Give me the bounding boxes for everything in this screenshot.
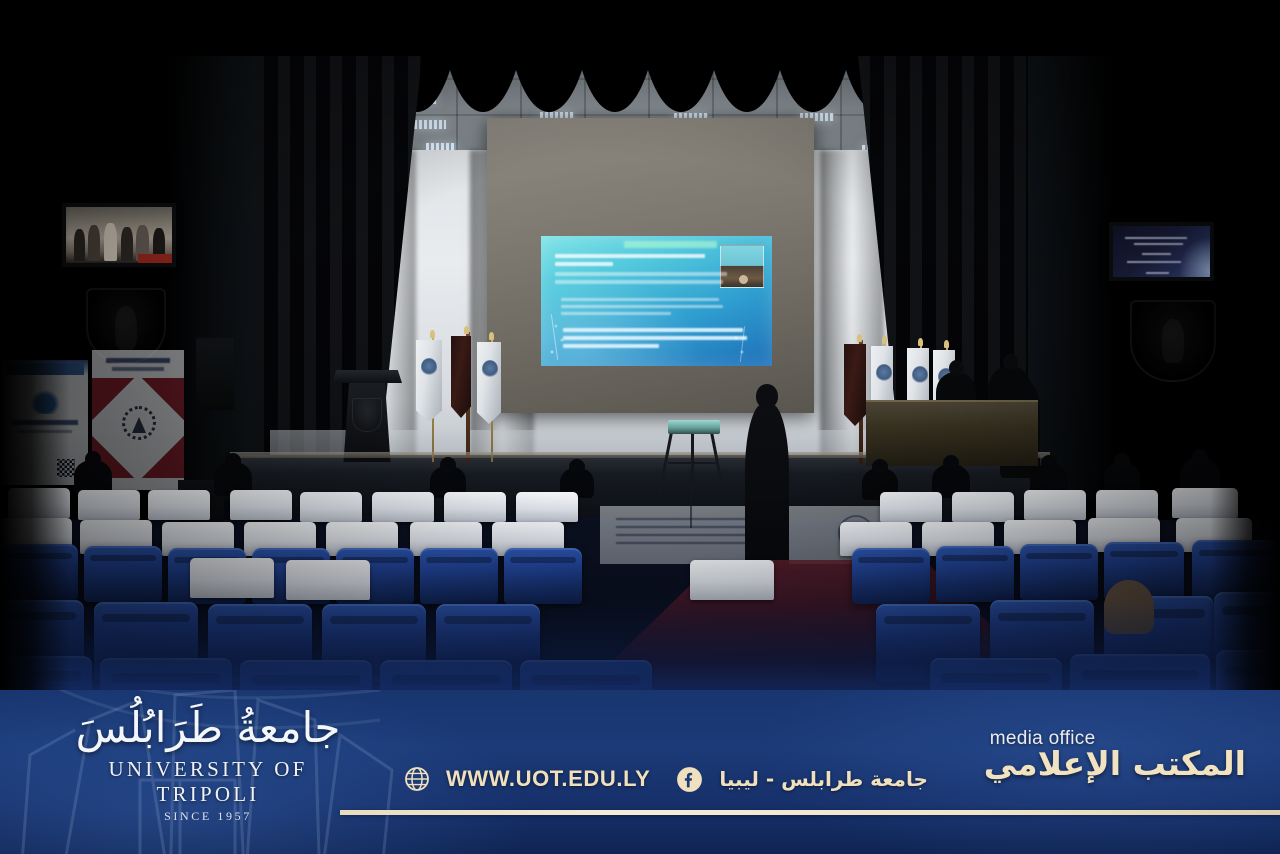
person-head [943, 455, 959, 471]
seat-headrest-cover [1096, 490, 1158, 520]
seat-headrest-cover [8, 488, 70, 518]
rollup-subtext [18, 430, 72, 433]
slide-text-line [563, 336, 747, 340]
seat-headrest-cover [372, 492, 434, 522]
flag-cloth [477, 342, 501, 424]
rollup-text [106, 358, 170, 363]
facebook-page-name[interactable]: جامعة طرابلس - ليبيا [719, 767, 928, 791]
person-head [1114, 453, 1130, 469]
rollup-subtext [112, 367, 164, 371]
flag-emblem [912, 366, 928, 384]
audience-seat [504, 548, 582, 604]
slide-text-line [563, 344, 659, 348]
video-call-thumbnail-icon [720, 245, 764, 288]
audience-seat [420, 548, 498, 604]
seat-headrest-cover [78, 490, 140, 520]
slide-decoration [730, 322, 750, 362]
audience-seat [1020, 544, 1098, 600]
seat-headrest-cover [444, 492, 506, 522]
panelist-head [1003, 354, 1018, 370]
flag-finial [489, 332, 494, 340]
flag-emblem [421, 358, 437, 376]
slide-text-line [561, 305, 723, 308]
seat-headrest-cover [690, 560, 774, 600]
tv-figure [121, 227, 133, 261]
tv-figure [74, 229, 85, 261]
tv-red-carpet [138, 254, 172, 263]
flag-cloth [844, 344, 866, 426]
seat-headrest-cover [286, 560, 370, 600]
person-head [569, 459, 585, 475]
person-head [1192, 449, 1208, 465]
person-head [85, 451, 101, 467]
audience-seat [852, 548, 930, 604]
seat-headrest-cover [190, 558, 274, 598]
seat-headrest-cover [952, 492, 1014, 522]
media-office-arabic: المكتب الإعلامي [984, 746, 1246, 783]
wall-tv-right-screen [1113, 226, 1210, 277]
person-head [225, 453, 241, 469]
proscenium-mask-top [0, 0, 1280, 56]
seat-headrest-cover [1172, 488, 1238, 518]
footer-divider-rule [340, 810, 1280, 815]
slide-text-line [563, 328, 743, 332]
audience-person-bald [1104, 580, 1154, 634]
slide-text-line [555, 280, 723, 284]
audience-person [74, 460, 112, 494]
flag-finial [882, 336, 887, 344]
screenshot-root: جامعةُ طَرَابُلُسَ UNIVERSITY OF TRIPOLI… [0, 0, 1280, 854]
slide-text-line [555, 262, 613, 266]
wall-tv-right [1109, 222, 1214, 281]
university-brand: جامعةُ طَرَابُلُسَ UNIVERSITY OF TRIPOLI… [58, 704, 358, 824]
wall-emblem-right [1130, 300, 1216, 382]
slide-text-line [561, 298, 719, 301]
rollup-header-bar [6, 363, 84, 375]
wall-tv-left-screen [66, 207, 172, 263]
rollup-logo [28, 388, 62, 414]
projector [668, 420, 720, 434]
podium-top [332, 370, 402, 383]
flag-finial [464, 326, 469, 334]
tv-figure [88, 225, 100, 261]
flag-cloth [416, 340, 442, 422]
footer-bar: جامعةُ طَرَابُلُسَ UNIVERSITY OF TRIPOLI… [0, 690, 1280, 854]
seat-headrest-cover [880, 492, 942, 522]
slide-text-line [555, 272, 727, 276]
audience-seat [936, 546, 1014, 602]
seat-headrest-cover [148, 490, 210, 520]
tv-figure [104, 223, 117, 261]
tv-text-line [1125, 237, 1187, 239]
flag-finial [857, 334, 862, 342]
flag-emblem [876, 364, 892, 382]
audience-seat [84, 546, 162, 602]
rollup-text [12, 420, 78, 425]
conference-photo [0, 0, 1280, 712]
slide-text-line [561, 312, 671, 315]
brand-english-name: UNIVERSITY OF TRIPOLI [58, 757, 358, 807]
globe-icon [404, 766, 430, 792]
flag-finial [430, 330, 435, 338]
brand-since: SINCE 1957 [58, 809, 358, 824]
projection-screen [487, 118, 814, 413]
flag-finial [918, 338, 923, 346]
loudspeaker [196, 338, 234, 410]
person-head [1041, 455, 1057, 471]
seat-headrest-cover [516, 492, 578, 522]
person-head [872, 459, 888, 475]
flag-finial [944, 340, 949, 348]
wall-tv-left [62, 203, 176, 267]
slide-text-line [555, 254, 705, 258]
facebook-icon[interactable] [676, 766, 703, 793]
audience-seat [0, 544, 78, 600]
flag-emblem [482, 360, 498, 378]
panelist-head [949, 360, 964, 376]
tv-text-line [1146, 272, 1169, 274]
seat-headrest-cover [1024, 490, 1086, 520]
slide-title-bar [624, 241, 716, 248]
website-url[interactable]: WWW.UOT.EDU.LY [446, 766, 650, 792]
audience-seating [0, 440, 1280, 712]
podium-emblem [352, 398, 382, 432]
flag-cloth [451, 336, 471, 418]
audience-seat [1192, 540, 1280, 600]
gear-emblem-icon [122, 406, 156, 440]
seat-headrest-cover [230, 490, 292, 520]
seat-headrest-cover [300, 492, 362, 522]
presenter-head [756, 384, 778, 408]
projected-slide [541, 236, 772, 366]
thumbnail-person [739, 275, 748, 284]
media-office-block: media office المكتب الإعلامي [984, 728, 1246, 783]
brand-arabic-name: جامعةُ طَرَابُلُسَ [58, 704, 358, 751]
person-head [440, 457, 456, 473]
slide-decoration [546, 312, 572, 360]
footer-contact: WWW.UOT.EDU.LY جامعة طرابلس - ليبيا [404, 762, 928, 796]
